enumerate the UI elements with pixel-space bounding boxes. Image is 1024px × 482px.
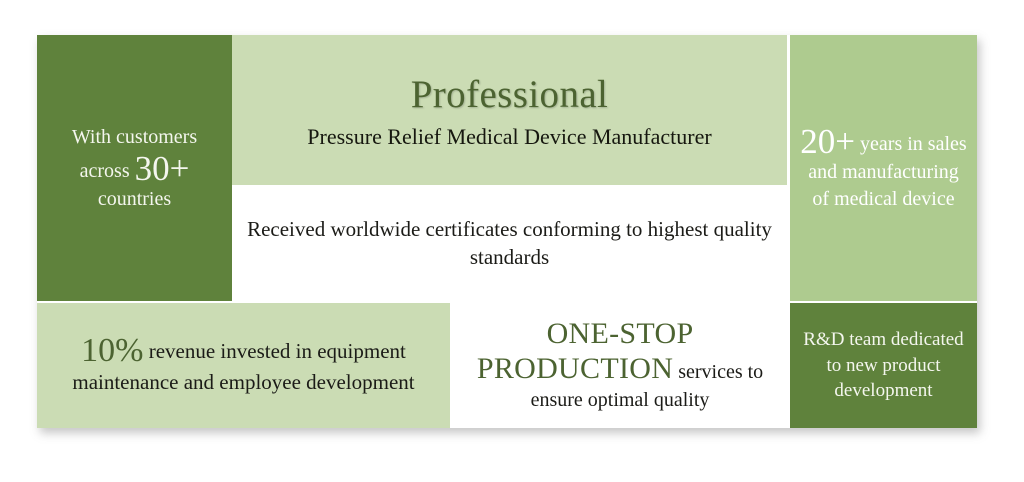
customers-lead-text: With customers [72, 126, 197, 148]
block-professional-headline: Professional Pressure Relief Medical Dev… [232, 35, 787, 185]
revenue-text-group: 10% revenue invested in equipment mainte… [47, 334, 440, 396]
block-years-experience: 20+ years in sales and manufacturing of … [790, 35, 977, 301]
block-one-stop-production: ONE-STOP PRODUCTION services to ensure o… [450, 303, 790, 428]
block-certificates: Received worldwide certificates conformi… [232, 185, 787, 301]
rnd-text: R&D team dedicated to new product develo… [800, 327, 967, 403]
block-rnd-team: R&D team dedicated to new product develo… [790, 303, 977, 428]
customers-stat-value: 30+ [135, 149, 190, 188]
block-revenue-investment: 10% revenue invested in equipment mainte… [37, 303, 450, 428]
onestop-stat-value: ONE-STOP PRODUCTION [477, 317, 694, 385]
infographic-root: With customers across 30+ countries Prof… [0, 0, 1024, 482]
onestop-text-group: ONE-STOP PRODUCTION services to ensure o… [460, 317, 780, 413]
customers-mid-text: across [80, 160, 130, 182]
customers-text-group: With customers across 30+ countries [72, 124, 197, 213]
years-stat-value: 20+ [800, 122, 855, 161]
block-customers-stat: With customers across 30+ countries [37, 35, 232, 301]
page-subtitle: Pressure Relief Medical Device Manufactu… [307, 123, 711, 151]
customers-trail-text: countries [98, 188, 171, 210]
certificates-text: Received worldwide certificates conformi… [242, 215, 777, 271]
years-text-group: 20+ years in sales and manufacturing of … [800, 124, 967, 213]
revenue-stat-value: 10% [81, 332, 143, 369]
page-title: Professional [411, 74, 609, 117]
